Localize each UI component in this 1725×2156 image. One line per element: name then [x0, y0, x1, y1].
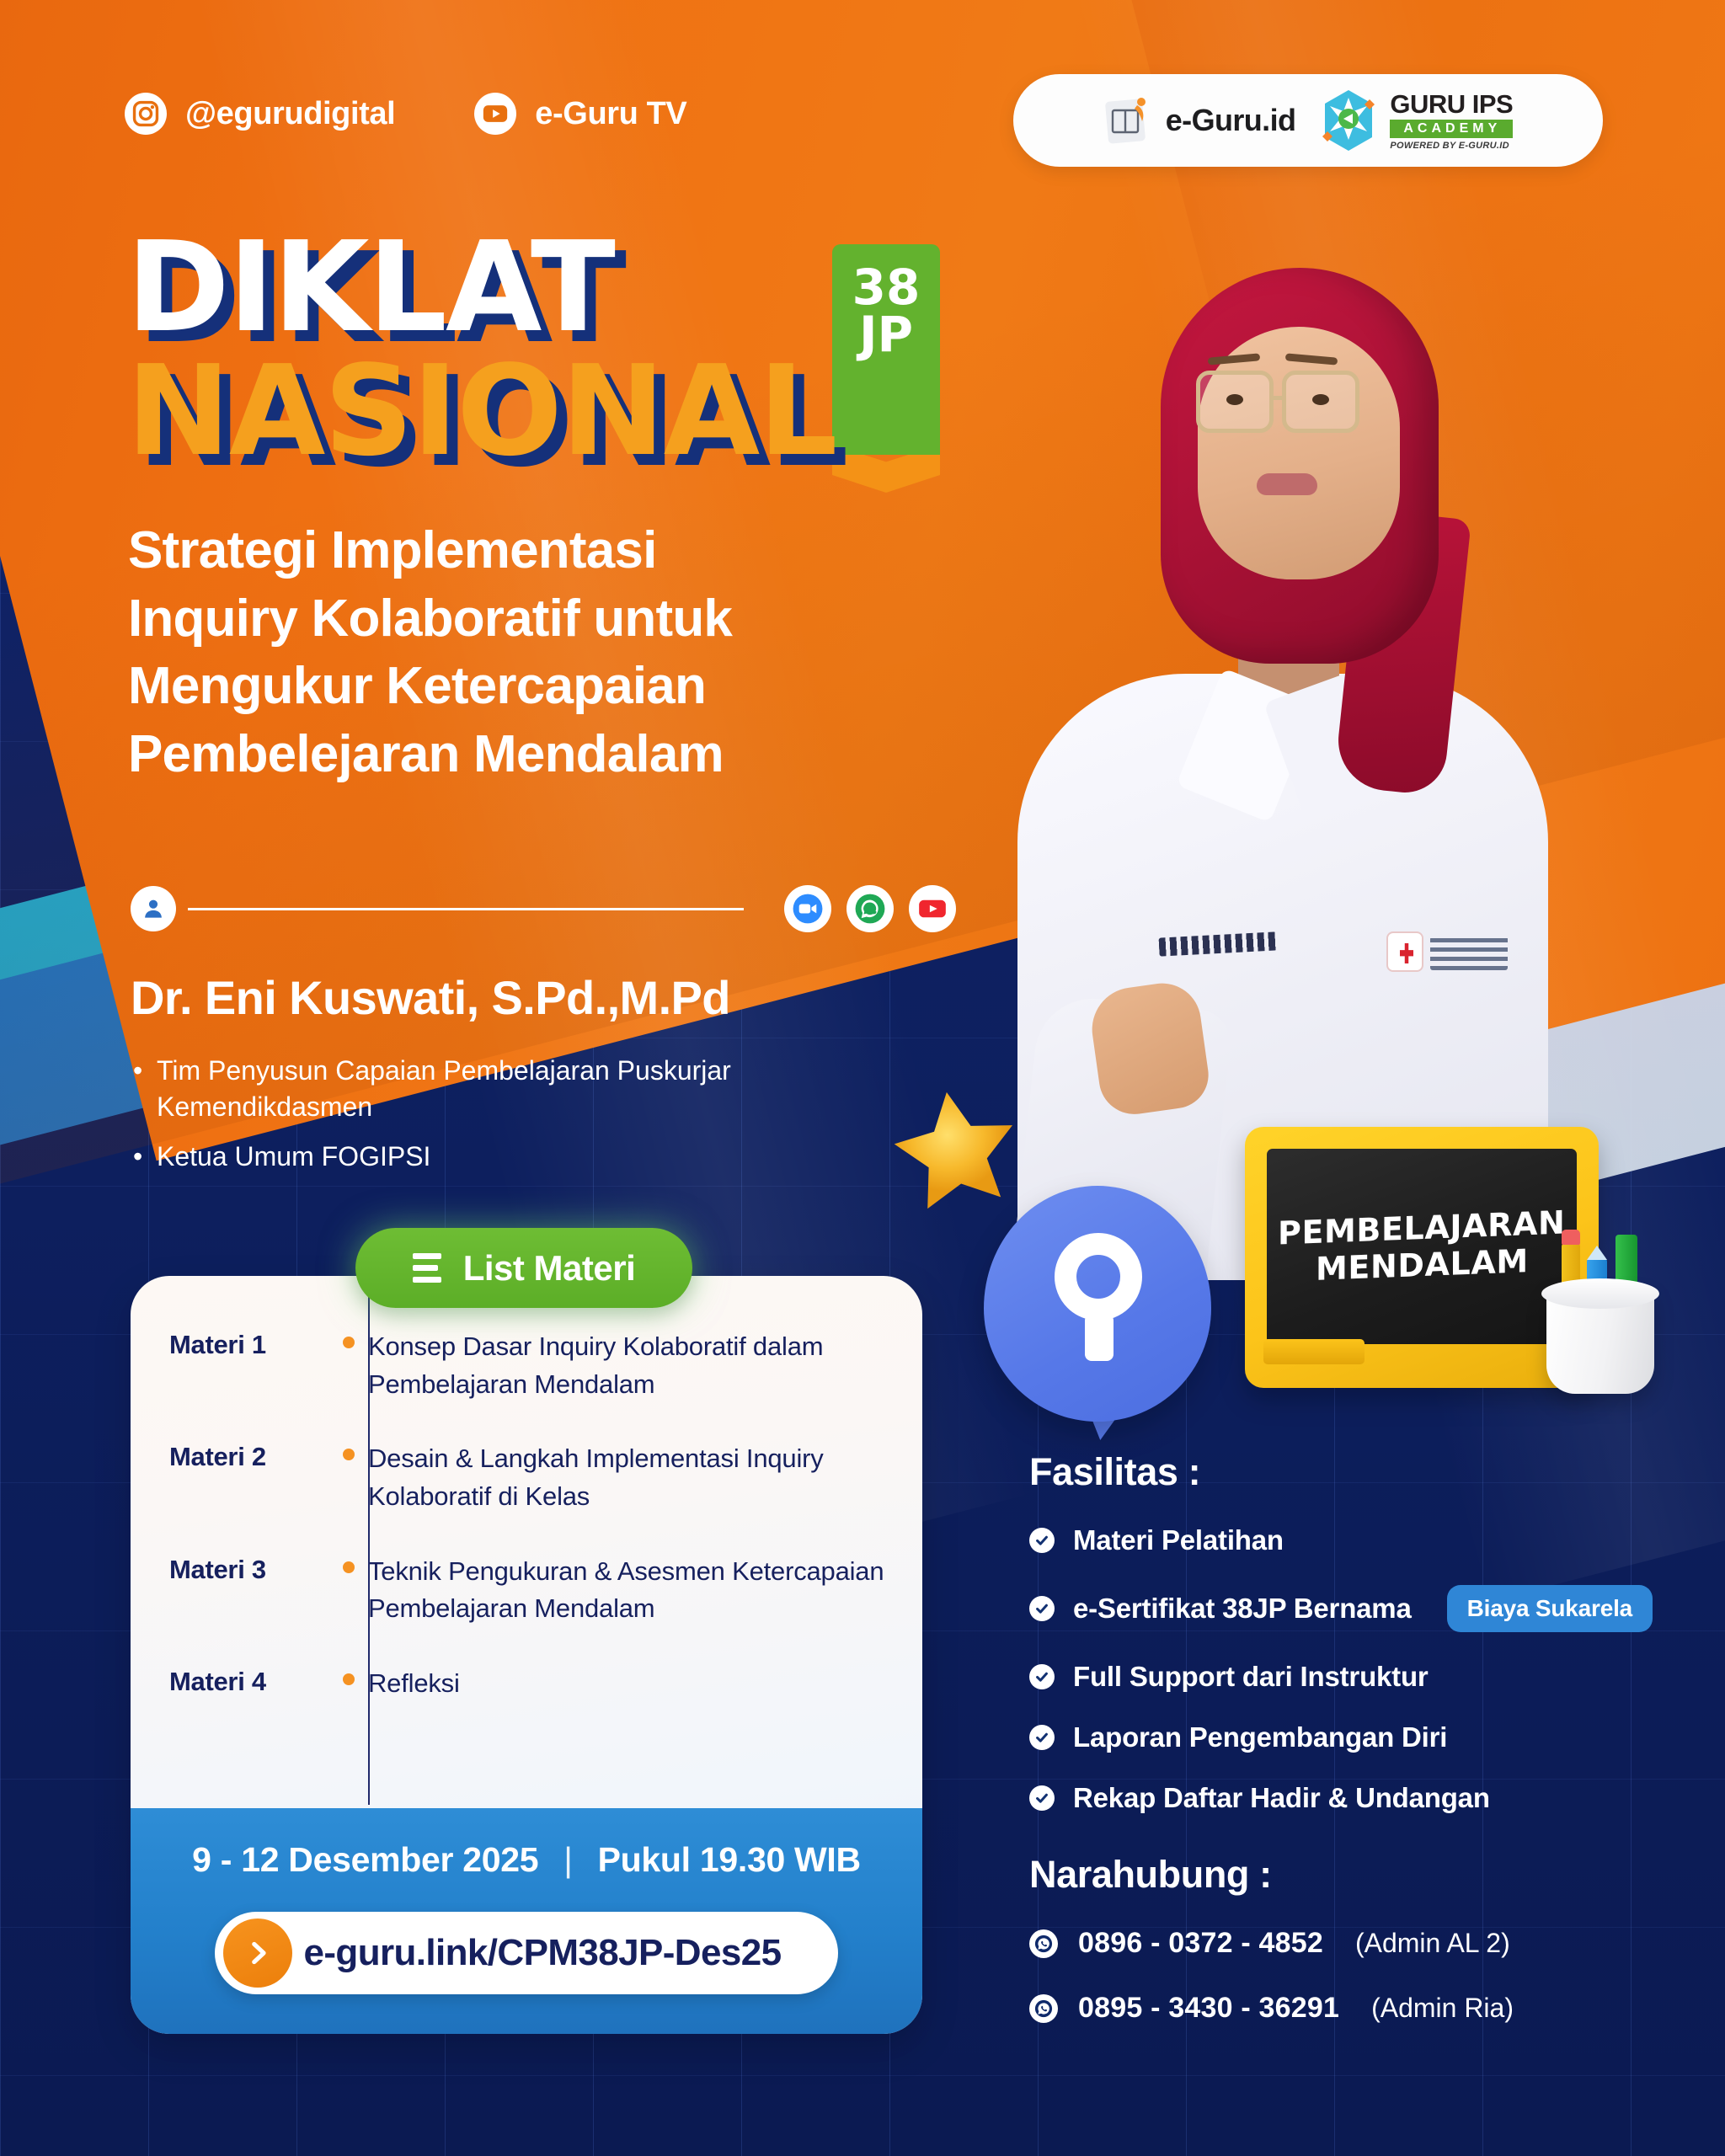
timeline-dot-icon: [343, 1449, 355, 1460]
materi-text: Konsep Dasar Inquiry Kolaboratif dalam P…: [368, 1328, 890, 1403]
contact-owner: (Admin AL 2): [1355, 1928, 1510, 1959]
speaker-divider-row: [131, 883, 956, 935]
speaker-shirt-text: [1430, 937, 1508, 970]
fasilitas-label: Rekap Daftar Hadir & Undangan: [1073, 1782, 1490, 1814]
schedule-separator: |: [563, 1840, 572, 1880]
contact-owner: (Admin Ria): [1371, 1993, 1514, 2024]
ribbon-body: 38 JP: [832, 244, 940, 455]
whatsapp-icon[interactable]: [846, 885, 894, 932]
speaker-eye-left: [1226, 394, 1243, 405]
registration-link-button[interactable]: e-guru.link/CPM38JP-Des25: [215, 1912, 838, 1994]
fasilitas-label: e-Sertifikat 38JP Bernama: [1073, 1593, 1412, 1625]
timeline-dot-icon: [343, 1673, 355, 1685]
list-item: e-Sertifikat 38JP Bernama Biaya Sukarela: [1029, 1585, 1695, 1632]
timeline-line: [368, 1291, 370, 1805]
check-icon: [1029, 1725, 1055, 1750]
list-item: Materi 3 Teknik Pengukuran & Asesmen Ket…: [169, 1553, 890, 1628]
credential-text: Ketua Umum FOGIPSI: [157, 1139, 430, 1175]
contact-number: 0896 - 0372 - 4852: [1078, 1927, 1323, 1960]
materi-label: Materi 1: [169, 1328, 329, 1360]
status-badge: Biaya Sukarela: [1447, 1585, 1653, 1632]
materi-label: Materi 4: [169, 1665, 329, 1697]
check-icon: [1029, 1785, 1055, 1811]
speaker-shirt-emblem: [1386, 931, 1423, 972]
fasilitas-label: Materi Pelatihan: [1073, 1524, 1284, 1556]
chalkboard-ledge: [1263, 1339, 1365, 1364]
poster-root: @egurudigital e-Guru TV e-Guru.id: [0, 0, 1725, 2156]
timeline-node: [329, 1440, 368, 1460]
speaker-credentials: • Tim Penyusun Capaian Pembelajaran Pusk…: [133, 1053, 942, 1188]
person-icon: [131, 886, 176, 931]
speaker-fist: [1087, 979, 1213, 1119]
pencil-cup-decor: [1538, 1238, 1664, 1394]
fasilitas-section: Fasilitas : Materi Pelatihan e-Sertifika…: [1029, 1450, 1695, 1843]
magnifier-ring: [1055, 1233, 1142, 1321]
guru-ips-powered-by: POWERED BY E-GURU.ID: [1390, 141, 1513, 151]
speaker-name: Dr. Eni Kuswati, S.Pd.,M.Pd: [131, 970, 730, 1025]
list-item: Materi 2 Desain & Langkah Implementasi I…: [169, 1440, 890, 1515]
event-time: Pukul 19.30 WIB: [598, 1840, 861, 1880]
title-line-nasional: NASIONAL: [126, 353, 836, 470]
list-item: Rekap Daftar Hadir & Undangan: [1029, 1782, 1695, 1814]
timeline-node: [329, 1553, 368, 1573]
materi-text: Desain & Langkah Implementasi Inquiry Ko…: [368, 1440, 890, 1515]
check-icon: [1029, 1596, 1055, 1621]
page-subtitle: Strategi Implementasi Inquiry Kolaborati…: [128, 517, 987, 788]
credential-item: • Ketua Umum FOGIPSI: [133, 1139, 942, 1175]
star-icon: [889, 1086, 1023, 1217]
contact-row[interactable]: 0895 - 3430 - 36291 (Admin Ria): [1029, 1992, 1695, 2025]
book-icon: [1103, 93, 1156, 147]
hamburger-icon: [413, 1253, 441, 1283]
speaker-eye-right: [1312, 394, 1329, 405]
divider-line: [188, 908, 744, 910]
fasilitas-label: Laporan Pengembangan Diri: [1073, 1721, 1447, 1753]
list-item: Materi 4 Refleksi: [169, 1665, 890, 1703]
title-line-diklat: DIKLAT: [126, 229, 836, 346]
cup-rim: [1541, 1278, 1659, 1309]
guru-ips-title: GURU IPS: [1390, 91, 1513, 117]
timeline-dot-icon: [343, 1337, 355, 1348]
channel-icons: [784, 885, 956, 932]
jp-ribbon-badge: 38 JP: [832, 244, 940, 455]
social-instagram[interactable]: @egurudigital: [125, 93, 395, 135]
list-materi-button[interactable]: List Materi: [355, 1228, 692, 1308]
guru-ips-logo: GURU IPS ACADEMY POWERED BY E-GURU.ID: [1317, 88, 1513, 153]
bullet-icon: •: [133, 1053, 142, 1125]
fasilitas-label: Full Support dari Instruktur: [1073, 1661, 1429, 1693]
check-icon: [1029, 1664, 1055, 1689]
materi-text: Refleksi: [368, 1665, 890, 1703]
whatsapp-icon: [1029, 1994, 1058, 2023]
list-materi-label: List Materi: [463, 1248, 636, 1289]
bullet-icon: •: [133, 1139, 142, 1175]
subtitle-line-3: Mengukur Ketercapaian: [128, 653, 987, 721]
guru-ips-academy: ACADEMY: [1390, 120, 1513, 138]
ribbon-number: 38: [852, 264, 921, 312]
materi-list: Materi 1 Konsep Dasar Inquiry Kolaborati…: [131, 1328, 922, 1702]
social-youtube[interactable]: e-Guru TV: [474, 93, 686, 135]
magnifier-icon: [1055, 1233, 1146, 1359]
zoom-icon[interactable]: [784, 885, 831, 932]
chalkboard-line-2: MENDALAM: [1316, 1244, 1529, 1286]
timeline-node: [329, 1665, 368, 1685]
header-social-row: @egurudigital e-Guru TV: [125, 93, 686, 135]
compass-icon: [1317, 88, 1380, 153]
narahubung-title: Narahubung :: [1029, 1853, 1695, 1897]
registration-link-text: e-guru.link/CPM38JP-Des25: [292, 1932, 838, 1974]
eguru-logo: e-Guru.id: [1103, 93, 1296, 147]
chevron-right-icon: [223, 1919, 292, 1988]
list-item: Materi Pelatihan: [1029, 1524, 1695, 1556]
fasilitas-title: Fasilitas :: [1029, 1450, 1695, 1494]
magnifier-handle: [1085, 1314, 1114, 1361]
subtitle-line-4: Pembelejaran Mendalam: [128, 721, 987, 789]
speaker-face: [1198, 327, 1400, 579]
credential-text: Tim Penyusun Capaian Pembelajaran Puskur…: [157, 1053, 942, 1125]
event-date: 9 - 12 Desember 2025: [192, 1840, 538, 1880]
timeline-node: [329, 1328, 368, 1348]
speaker-glasses-bridge: [1274, 396, 1284, 400]
youtube-icon[interactable]: [909, 885, 956, 932]
materi-card: Materi 1 Konsep Dasar Inquiry Kolaborati…: [131, 1276, 922, 2034]
ribbon-unit: JP: [859, 312, 913, 359]
card-footer: 9 - 12 Desember 2025 | Pukul 19.30 WIB e…: [131, 1808, 922, 2034]
speaker-mouth: [1257, 473, 1317, 495]
materi-text: Teknik Pengukuran & Asesmen Ketercapaian…: [368, 1553, 890, 1628]
page-title: DIKLAT NASIONAL: [126, 229, 836, 470]
list-item: Full Support dari Instruktur: [1029, 1661, 1695, 1693]
event-schedule: 9 - 12 Desember 2025 | Pukul 19.30 WIB: [192, 1840, 861, 1880]
materi-label: Materi 3: [169, 1553, 329, 1585]
logo-badge: e-Guru.id GURU IPS ACADEMY POWERED BY E-…: [1013, 74, 1603, 167]
list-item: Materi 1 Konsep Dasar Inquiry Kolaborati…: [169, 1328, 890, 1403]
timeline-dot-icon: [343, 1561, 355, 1573]
check-icon: [1029, 1528, 1055, 1553]
youtube-icon: [474, 93, 516, 135]
social-youtube-label: e-Guru TV: [535, 96, 686, 132]
contact-row[interactable]: 0896 - 0372 - 4852 (Admin AL 2): [1029, 1927, 1695, 1960]
magnifier-bubble: [984, 1186, 1211, 1422]
list-item: Laporan Pengembangan Diri: [1029, 1721, 1695, 1753]
materi-label: Materi 2: [169, 1440, 329, 1472]
credential-item: • Tim Penyusun Capaian Pembelajaran Pusk…: [133, 1053, 942, 1125]
narahubung-section: Narahubung : 0896 - 0372 - 4852 (Admin A…: [1029, 1853, 1695, 2057]
subtitle-line-2: Inquiry Kolaboratif untuk: [128, 585, 987, 654]
contact-number: 0895 - 3430 - 36291: [1078, 1992, 1339, 2025]
eguru-name: e-Guru.id: [1166, 103, 1296, 138]
social-instagram-label: @egurudigital: [185, 96, 395, 132]
instagram-icon: [125, 93, 167, 135]
chalkboard-surface: PEMBELAJARAN MENDALAM: [1267, 1149, 1577, 1344]
subtitle-line-1: Strategi Implementasi: [128, 517, 987, 585]
speaker-photo: [985, 244, 1575, 1280]
whatsapp-icon: [1029, 1929, 1058, 1958]
